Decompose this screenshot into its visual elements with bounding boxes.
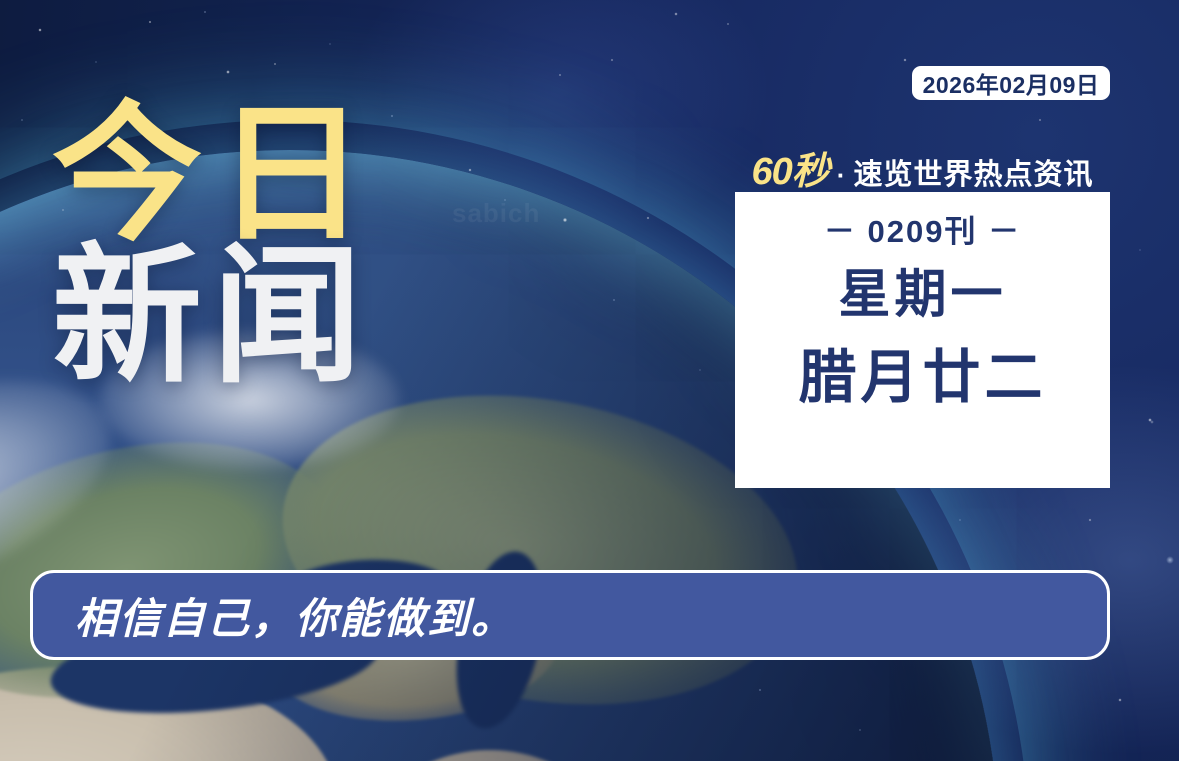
news-poster: sabich 2026年02月09日 60秒 · 速览世界热点资讯 － 0209… [0, 0, 1179, 761]
headline-line-1: 今日 [52, 96, 380, 254]
quote-text: 相信自己，你能做到。 [75, 585, 515, 646]
headline-line-2: 新闻 [52, 238, 380, 396]
headline: 今日 新闻 [52, 96, 380, 395]
issue-number: － 0209刊 － [824, 206, 1021, 251]
tagline-seconds: 60秒 [752, 140, 829, 195]
tagline-description: 速览世界热点资讯 [853, 151, 1093, 193]
tagline-separator-dot: · [835, 160, 848, 191]
watermark-text: sabich [452, 198, 540, 229]
lunar-date-label: 腊月廿二 [798, 342, 1046, 415]
date-badge-label: 2026年02月09日 [923, 66, 1100, 100]
date-badge: 2026年02月09日 [912, 66, 1110, 100]
weekday-label: 星期一 [838, 263, 1006, 328]
issue-info-card: － 0209刊 － 星期一 腊月廿二 [735, 192, 1110, 488]
quote-banner: 相信自己，你能做到。 [30, 570, 1110, 660]
tagline: 60秒 · 速览世界热点资讯 [735, 140, 1110, 195]
